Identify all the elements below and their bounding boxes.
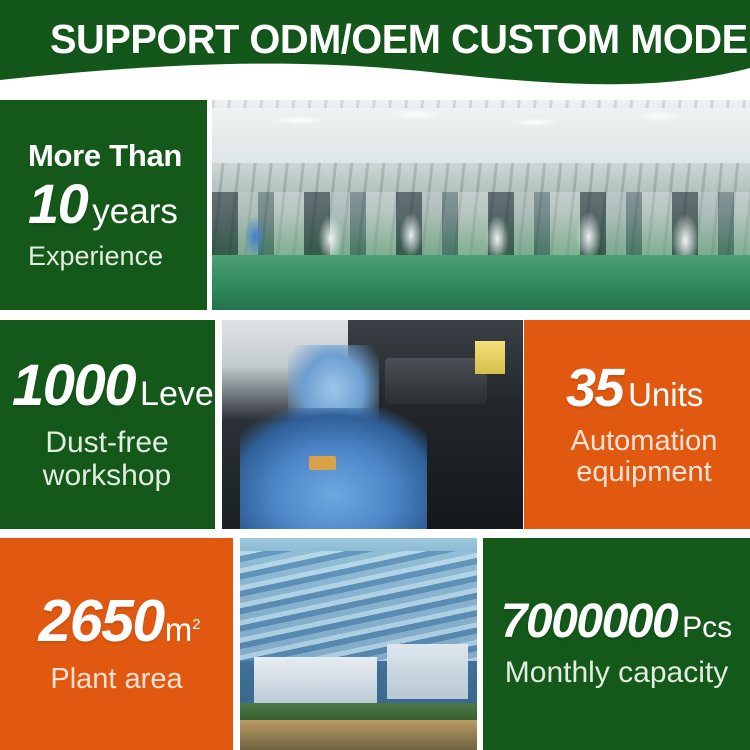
stat-caption-experience: Experience xyxy=(28,242,207,271)
stat-value-row-capacity: 7000000 Pcs xyxy=(483,598,750,646)
stat-caption-dust-free: Dust-free workshop xyxy=(12,427,202,492)
stat-card-monthly-capacity: 7000000 Pcs Monthly capacity xyxy=(483,538,750,750)
inspection-photo-image xyxy=(222,320,523,529)
workshop-photo xyxy=(212,100,750,310)
stat-unit-plant-area: m2 xyxy=(165,613,201,646)
page-title: SUPPORT ODM/OEM CUSTOM MODE xyxy=(50,17,719,62)
stat-unit-text-plant-area: m xyxy=(165,611,193,648)
stat-card-plant-area: 2650 m2 Plant area xyxy=(0,538,233,750)
stats-row-2: 1000 Level Dust-free workshop 35 Units A… xyxy=(0,320,750,529)
stat-unit-superscript-plant-area: 2 xyxy=(192,617,200,633)
ground-detail xyxy=(240,720,477,750)
stat-value-row-dust-free: 1000 Level xyxy=(12,357,215,415)
green-floor-detail xyxy=(212,255,750,310)
control-panel-detail xyxy=(475,341,505,374)
tree-line-detail xyxy=(240,703,477,720)
stat-number-automation: 35 xyxy=(566,361,623,415)
stat-unit-automation: Units xyxy=(628,378,703,411)
factory-photo-image xyxy=(240,538,477,750)
stat-value-row-experience: 10 years xyxy=(28,176,207,232)
factory-building-back-detail xyxy=(387,644,468,699)
stat-card-dust-free-workshop: 1000 Level Dust-free workshop xyxy=(0,320,215,529)
stat-prefix-experience: More Than xyxy=(28,138,207,174)
worker-badge-detail xyxy=(309,456,336,471)
stat-number-experience: 10 xyxy=(28,176,87,232)
stat-card-experience: More Than 10 years Experience xyxy=(0,100,207,310)
workshop-photo-image xyxy=(212,100,750,310)
stat-value-row-automation: 35 Units xyxy=(540,361,750,415)
company-strength-infographic: SUPPORT ODM/OEM CUSTOM MODE More Than 10… xyxy=(0,0,750,750)
factory-photo xyxy=(240,538,477,750)
stat-number-capacity: 7000000 xyxy=(501,598,677,646)
stats-row-1: More Than 10 years Experience xyxy=(0,100,750,310)
stat-unit-capacity: Pcs xyxy=(682,613,732,643)
stat-number-plant-area: 2650 xyxy=(38,592,163,651)
stat-card-automation-equipment: 35 Units Automation equipment xyxy=(524,320,750,529)
stat-unit-dust-free: Level xyxy=(140,377,215,411)
header-banner: SUPPORT ODM/OEM CUSTOM MODE xyxy=(0,0,750,92)
stat-number-dust-free: 1000 xyxy=(12,357,135,415)
inspection-photo xyxy=(222,320,523,529)
stats-row-3: 2650 m2 Plant area 7000000 Pcs Monthly c… xyxy=(0,538,750,750)
stat-caption-automation: Automation equipment xyxy=(540,426,748,489)
stat-value-row-plant-area: 2650 m2 xyxy=(0,592,233,651)
stat-unit-experience: years xyxy=(92,194,178,229)
stat-caption-capacity: Monthly capacity xyxy=(483,657,750,689)
stat-caption-plant-area: Plant area xyxy=(0,664,233,695)
microscope-detail xyxy=(385,358,487,404)
ceiling-lights-detail xyxy=(212,108,750,163)
